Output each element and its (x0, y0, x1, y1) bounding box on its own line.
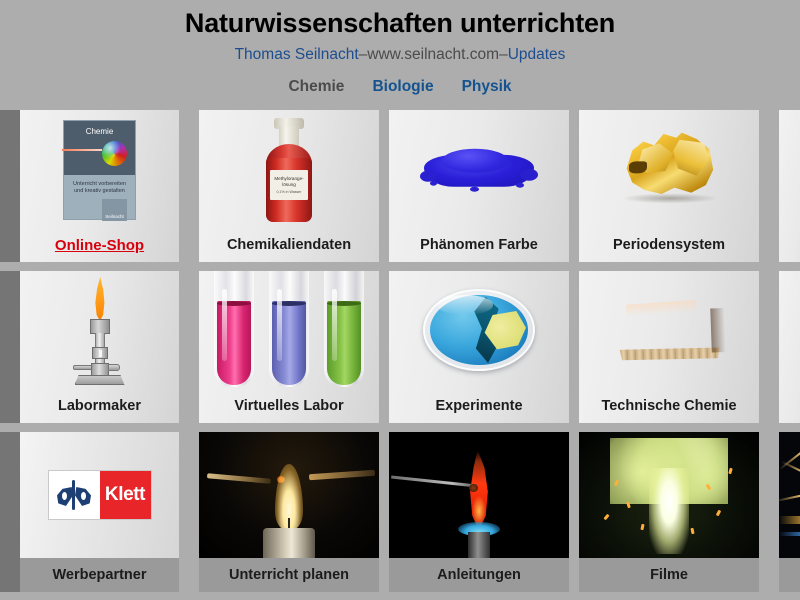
nugget-shadow (623, 193, 717, 203)
sparks-amber-band (779, 516, 800, 524)
spark-streak-3 (779, 488, 800, 502)
flame-test-wire (391, 476, 477, 488)
tile-caption-labormaker[interactable]: Labormaker (20, 389, 179, 423)
burner-air-collar (92, 347, 108, 359)
klett-logo: Klett (48, 470, 152, 520)
candle-match-left (207, 473, 271, 484)
copper-plate-shadow (710, 308, 726, 352)
nav-item-chemie[interactable]: Chemie (288, 77, 344, 97)
page-header: Naturwissenschaften unterrichten Thomas … (0, 0, 800, 97)
partial-thumbnail-row1 (779, 110, 800, 228)
anleitungen-thumbnail (389, 432, 569, 558)
book-cover-publisher-box: Seilnacht (102, 199, 127, 221)
tile-unterricht-planen[interactable]: Unterricht planen (199, 432, 379, 592)
chemikaliendaten-thumbnail: Methylorange- lösung 0,1% in Wasser (199, 110, 379, 228)
byline-dash-1: – (359, 46, 368, 63)
tile-chemikaliendaten[interactable]: Methylorange- lösung 0,1% in Wasser Chem… (199, 110, 379, 262)
technische-chemie-thumbnail (579, 271, 759, 389)
candle-image (199, 432, 379, 558)
sparks-blue-band (779, 532, 800, 536)
byline-dash-2: – (499, 46, 508, 63)
explosion-core (649, 468, 689, 554)
explosion-spark-7 (603, 514, 609, 521)
edge-column-left-row1 (0, 110, 20, 262)
candle-wick (288, 518, 290, 528)
main-nav: ChemieBiologiePhysik (0, 77, 800, 97)
periodensystem-thumbnail (579, 110, 759, 228)
book-cover-subtitle: Unterricht vorbereiten und kreativ gesta… (64, 181, 135, 195)
test-tube-green (324, 271, 364, 389)
explosion-spark-4 (716, 510, 721, 517)
updates-link[interactable]: Updates (508, 46, 566, 63)
filme-thumbnail (579, 432, 759, 558)
tile-row-2: Labormaker (0, 271, 800, 423)
burner-flame (94, 277, 107, 321)
tile-caption-experimente[interactable]: Experimente (389, 389, 569, 423)
klett-wordmark: Klett (100, 471, 151, 519)
test-tube-violet (269, 271, 309, 389)
test-tubes-image (214, 271, 364, 389)
explosion-spark-6 (690, 528, 694, 534)
burner-gas-nozzle (73, 365, 93, 370)
tile-phaenomen-farbe[interactable]: Phänomen Farbe (389, 110, 569, 262)
burner-base (75, 375, 125, 385)
tile-caption-periodensystem[interactable]: Periodensystem (579, 228, 759, 262)
tile-caption-unterricht-planen[interactable]: Unterricht planen (199, 558, 379, 592)
petri-dish-gloss (437, 295, 493, 315)
tile-grid: Chemie Unterricht vorbereiten und kreati… (0, 110, 800, 600)
flame-test-image (389, 432, 569, 558)
online-shop-thumbnail: Chemie Unterricht vorbereiten und kreati… (20, 110, 179, 228)
sparks-image (779, 432, 800, 558)
labormaker-thumbnail (20, 271, 179, 389)
sparks-thumbnail (779, 432, 800, 558)
werbepartner-thumbnail: Klett (20, 432, 179, 558)
bottle-label-line2: lösung (282, 182, 296, 188)
blue-pigment-image (420, 149, 538, 193)
tile-werbepartner[interactable]: Klett Werbepartner (20, 432, 179, 592)
gold-nugget-image (617, 125, 721, 209)
flame-test-sample-bead (469, 484, 478, 492)
tile-partial-right-row3[interactable] (779, 432, 800, 592)
book-cover-image: Chemie Unterricht vorbereiten und kreati… (63, 120, 136, 220)
tile-caption-chemikaliendaten[interactable]: Chemikaliendaten (199, 228, 379, 262)
pigment-pile-top (442, 149, 508, 173)
book-cover-title: Chemie (64, 127, 135, 136)
copper-plate-image (612, 292, 726, 368)
tile-filme[interactable]: Filme (579, 432, 759, 592)
tile-caption-partial-row2 (779, 389, 800, 423)
burner-knob (108, 364, 120, 371)
test-tube-highlight-3 (332, 289, 337, 361)
burner-head (90, 319, 110, 334)
flame-test-burner (468, 532, 490, 558)
site-url: www.seilnacht.com (367, 46, 499, 63)
tile-virtuelles-labor[interactable]: Virtuelles Labor (199, 271, 379, 423)
unterricht-planen-thumbnail (199, 432, 379, 558)
tile-row-1: Chemie Unterricht vorbereiten und kreati… (0, 110, 800, 262)
virtuelles-labor-thumbnail (199, 271, 379, 389)
tile-partial-right-row2[interactable] (779, 271, 800, 423)
bottle-label: Methylorange- lösung 0,1% in Wasser (270, 170, 308, 200)
pigment-scatter-right (520, 169, 538, 181)
book-cover-publisher: Seilnacht (102, 214, 127, 219)
tile-caption-werbepartner[interactable]: Werbepartner (20, 558, 179, 592)
candle-match-right (309, 470, 375, 481)
tile-caption-partial-row3 (779, 558, 800, 592)
tile-online-shop[interactable]: Chemie Unterricht vorbereiten und kreati… (20, 110, 179, 262)
tile-caption-technische-chemie[interactable]: Technische Chemie (579, 389, 759, 423)
tile-labormaker[interactable]: Labormaker (20, 271, 179, 423)
burner-valve (91, 363, 109, 376)
explosion-spark-8 (728, 468, 733, 475)
nav-item-biologie[interactable]: Biologie (372, 77, 433, 97)
tile-partial-right-row1[interactable] (779, 110, 800, 262)
klett-emblem-icon (57, 478, 91, 512)
test-tube-highlight-2 (277, 289, 282, 361)
tile-caption-virtuelles-labor[interactable]: Virtuelles Labor (199, 389, 379, 423)
color-sphere-icon (102, 141, 127, 166)
tile-experimente[interactable]: Experimente (389, 271, 569, 423)
pigment-speck-3 (470, 187, 479, 192)
tile-caption-anleitungen[interactable]: Anleitungen (389, 558, 569, 592)
tile-anleitungen[interactable]: Anleitungen (389, 432, 569, 592)
tile-caption-phaenomen-farbe[interactable]: Phänomen Farbe (389, 228, 569, 262)
tile-caption-partial-row1 (779, 228, 800, 262)
nugget-crevice (629, 161, 647, 173)
page-title: Naturwissenschaften unterrichten (0, 7, 800, 40)
test-tube-highlight-1 (222, 289, 227, 361)
explosion-image (579, 432, 759, 558)
author-link[interactable]: Thomas Seilnacht (235, 46, 359, 63)
tile-caption-filme[interactable]: Filme (579, 558, 759, 592)
tile-caption-online-shop[interactable]: Online-Shop (20, 228, 179, 262)
tile-row-3: Klett Werbepartner Unterricht planen (0, 432, 800, 592)
nav-item-physik[interactable]: Physik (462, 77, 512, 97)
edge-column-left-row3 (0, 432, 20, 592)
bunsen-burner-image (63, 277, 137, 385)
book-cover-stripe (62, 149, 102, 151)
phaenomen-farbe-thumbnail (389, 110, 569, 228)
partial-thumbnail-row2 (779, 271, 800, 389)
byline: Thomas Seilnacht–www.seilnacht.com–Updat… (0, 45, 800, 65)
candle-body (263, 528, 315, 558)
edge-column-left-row2 (0, 271, 20, 423)
petri-dish-image (423, 289, 535, 371)
tile-periodensystem[interactable]: Periodensystem (579, 110, 759, 262)
tile-technische-chemie[interactable]: Technische Chemie (579, 271, 759, 423)
bottle-label-line3: 0,1% in Wasser (276, 189, 301, 195)
explosion-spark-5 (640, 524, 644, 530)
klett-emblem-panel (49, 471, 100, 519)
experimente-thumbnail (389, 271, 569, 389)
test-tube-pink (214, 271, 254, 389)
pigment-speck-1 (430, 181, 437, 186)
reagent-bottle-image: Methylorange- lösung 0,1% in Wasser (258, 114, 320, 226)
pigment-speck-2 (516, 183, 524, 188)
